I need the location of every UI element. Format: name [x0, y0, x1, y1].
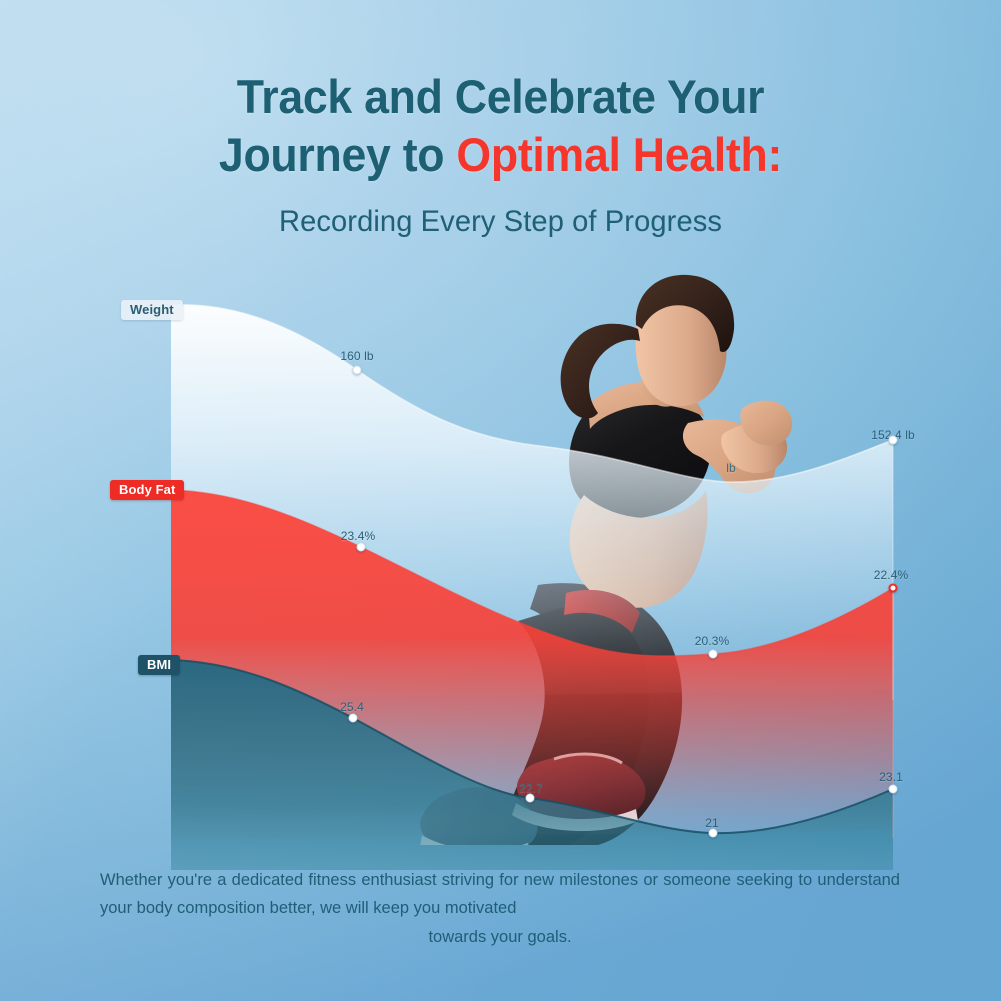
body-composition-chart: Weight Body Fat BMI 160 lb lb 152.4 lb 2… — [0, 0, 1001, 1001]
series-badge-body-fat[interactable]: Body Fat — [110, 480, 184, 500]
bmi-point-dot-1[interactable] — [349, 714, 358, 723]
weight-point-dot-1[interactable] — [353, 366, 362, 375]
footer-paragraph: Whether you're a dedicated fitness enthu… — [100, 871, 900, 917]
bodyfat-point-dot-3[interactable] — [889, 584, 898, 593]
bmi-point-dot-4[interactable] — [889, 785, 898, 794]
bmi-point-dot-2[interactable] — [526, 794, 535, 803]
weight-point-dot-3[interactable] — [889, 436, 898, 445]
bmi-point-dot-3[interactable] — [709, 829, 718, 838]
footer-paragraph-last-line: towards your goals. — [100, 923, 900, 951]
chart-svg — [0, 0, 1001, 1001]
bodyfat-point-label-1: 23.4% — [341, 529, 376, 543]
bmi-point-label-4: 23.1 — [879, 770, 903, 784]
series-badge-bmi[interactable]: BMI — [138, 655, 180, 675]
bodyfat-point-dot-2[interactable] — [709, 650, 718, 659]
bmi-point-label-1: 25.4 — [340, 700, 364, 714]
weight-point-label-1: 160 lb — [340, 349, 373, 363]
bodyfat-point-dot-1[interactable] — [357, 543, 366, 552]
series-badge-weight[interactable]: Weight — [121, 300, 183, 320]
footer-description: Whether you're a dedicated fitness enthu… — [100, 866, 900, 951]
weight-point-label-2: lb — [726, 461, 736, 475]
bodyfat-point-label-3: 22.4% — [874, 568, 909, 582]
bodyfat-point-label-2: 20.3% — [695, 634, 730, 648]
